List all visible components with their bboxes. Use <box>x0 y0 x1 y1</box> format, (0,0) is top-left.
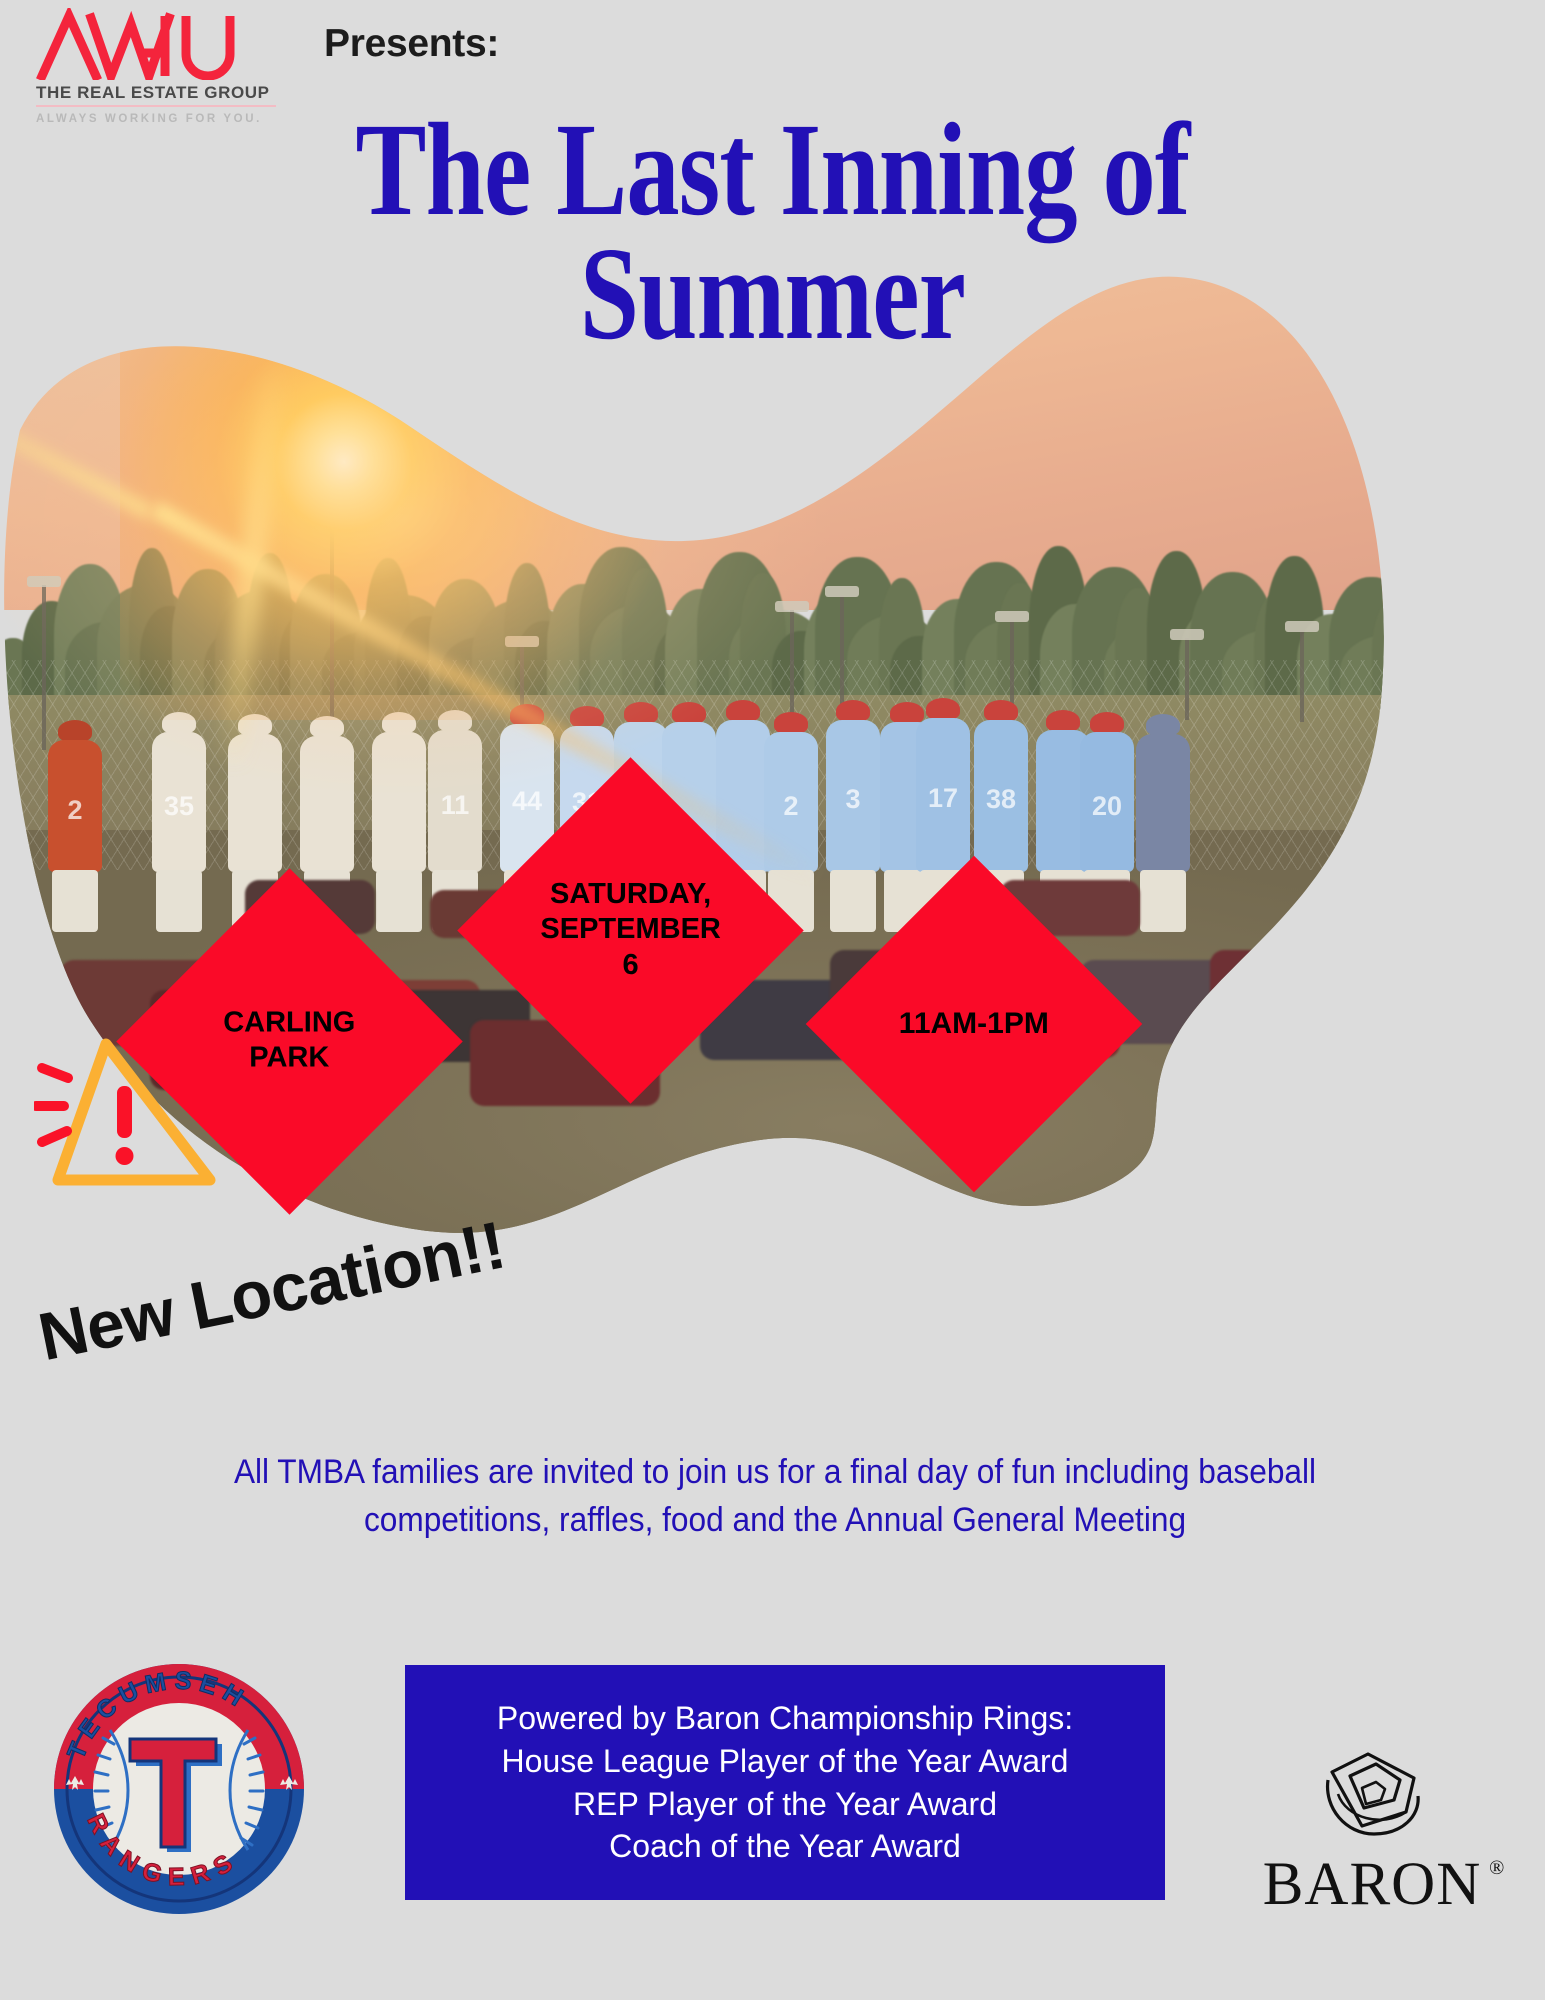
championship-ring-icon <box>1302 1742 1442 1854</box>
description-line-1: All TMBA families are invited to join us… <box>157 1448 1394 1496</box>
warning-triangle-icon <box>34 1030 234 1205</box>
tecumseh-rangers-logo: TECUMSEH RANGERS <box>48 1658 310 1920</box>
event-description: All TMBA families are invited to join us… <box>157 1448 1394 1545</box>
aw4u-divider <box>36 105 276 107</box>
rangers-crest-icon: TECUMSEH RANGERS <box>48 1658 310 1920</box>
sponsor-awards-box: Powered by Baron Championship Rings: Hou… <box>405 1665 1165 1900</box>
new-location-callout: New Location!! <box>32 1206 511 1376</box>
sponsor-line-3: REP Player of the Year Award <box>573 1783 997 1826</box>
title-line-1: The Last Inning of <box>155 108 1391 232</box>
page-title: The Last Inning of Summer <box>155 108 1391 355</box>
poster-canvas: 2 35 <box>0 0 1545 2000</box>
baron-word-text: BARON <box>1263 1851 1482 1918</box>
sponsor-line-2: House League Player of the Year Award <box>502 1740 1069 1783</box>
badge-date-text: SATURDAY, SEPTEMBER 6 <box>540 877 720 983</box>
title-line-2: Summer <box>155 232 1391 356</box>
baron-logo: BARON® <box>1232 1742 1512 1932</box>
sponsor-line-4: Coach of the Year Award <box>609 1825 961 1868</box>
presents-label: Presents: <box>324 22 499 66</box>
badge-location-text: CARLING PARK <box>223 1006 355 1077</box>
description-line-2: competitions, raffles, food and the Annu… <box>157 1496 1394 1544</box>
sponsor-line-1: Powered by Baron Championship Rings: <box>497 1697 1073 1740</box>
baron-wordmark: BARON® <box>1263 1854 1482 1915</box>
aw4u-wordmark-icon <box>36 8 286 80</box>
registered-mark: ® <box>1489 1858 1505 1878</box>
aw4u-subtitle: THE REAL ESTATE GROUP <box>36 83 286 103</box>
badge-time-text: 11AM-1PM <box>899 1006 1049 1043</box>
